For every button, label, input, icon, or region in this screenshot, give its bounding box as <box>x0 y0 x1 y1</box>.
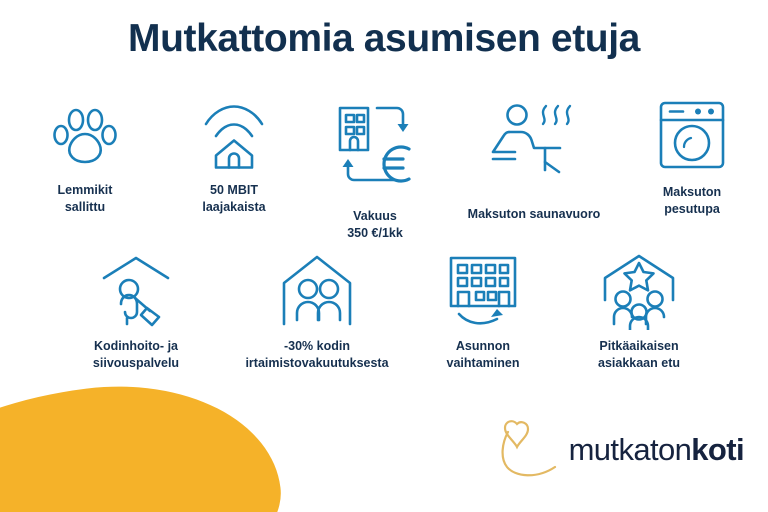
benefit-label: Vakuus 350 €/1kk <box>347 208 403 241</box>
benefit-label: Lemmikit sallittu <box>58 182 113 215</box>
apartment-swap-icon <box>443 252 523 330</box>
benefits-row-1: Lemmikit sallittu 50 MBIT laajakaista <box>0 96 768 241</box>
paw-print-icon <box>48 96 122 174</box>
benefits-row-2: Kodinhoito- ja siivouspalvelu -30% kodin… <box>0 252 768 371</box>
washing-machine-icon <box>654 96 730 174</box>
benefit-label: 50 MBIT laajakaista <box>202 182 265 215</box>
cleaning-person-icon <box>97 252 175 330</box>
house-star-family-icon <box>598 252 680 330</box>
decorative-orange-blob <box>0 367 291 512</box>
brand-logo[interactable]: mutkatonkoti <box>493 416 744 482</box>
logo-name-bold: koti <box>691 432 744 467</box>
benefit-item-broadband: 50 MBIT laajakaista <box>159 96 309 215</box>
benefit-item-laundry: Maksuton pesutupa <box>627 96 757 217</box>
benefit-label: Maksuton pesutupa <box>663 184 721 217</box>
house-family-icon <box>276 252 358 330</box>
benefit-label: Pitkäaikaisen asiakkaan etu <box>598 338 680 371</box>
benefit-item-deposit: Vakuus 350 €/1kk <box>309 96 441 241</box>
benefit-label: -30% kodin irtaimistovakuutuksesta <box>245 338 388 371</box>
benefit-item-cleaning: Kodinhoito- ja siivouspalvelu <box>47 252 225 371</box>
benefit-item-apartment-swap: Asunnon vaihtaminen <box>409 252 557 371</box>
page-title: Mutkattomia asumisen etuja <box>0 19 768 60</box>
benefit-item-loyalty: Pitkäaikaisen asiakkaan etu <box>557 252 721 371</box>
benefit-item-pets: Lemmikit sallittu <box>11 96 159 215</box>
logo-wordmark: mutkatonkoti <box>569 434 744 465</box>
heart-swoosh-icon <box>493 416 563 482</box>
logo-name-light: mutkaton <box>569 432 692 467</box>
infographic-page: Mutkattomia asumisen etuja Lemmikit sall… <box>0 0 768 512</box>
sauna-person-icon <box>485 96 583 188</box>
wifi-house-icon <box>197 96 271 174</box>
benefit-label: Asunnon vaihtaminen <box>447 338 520 371</box>
benefit-label: Kodinhoito- ja siivouspalvelu <box>93 338 179 371</box>
benefit-label: Maksuton saunavuoro <box>468 206 601 223</box>
benefit-item-sauna: Maksuton saunavuoro <box>441 96 627 223</box>
building-euro-exchange-icon <box>329 96 421 192</box>
benefit-item-insurance: -30% kodin irtaimistovakuutuksesta <box>225 252 409 371</box>
